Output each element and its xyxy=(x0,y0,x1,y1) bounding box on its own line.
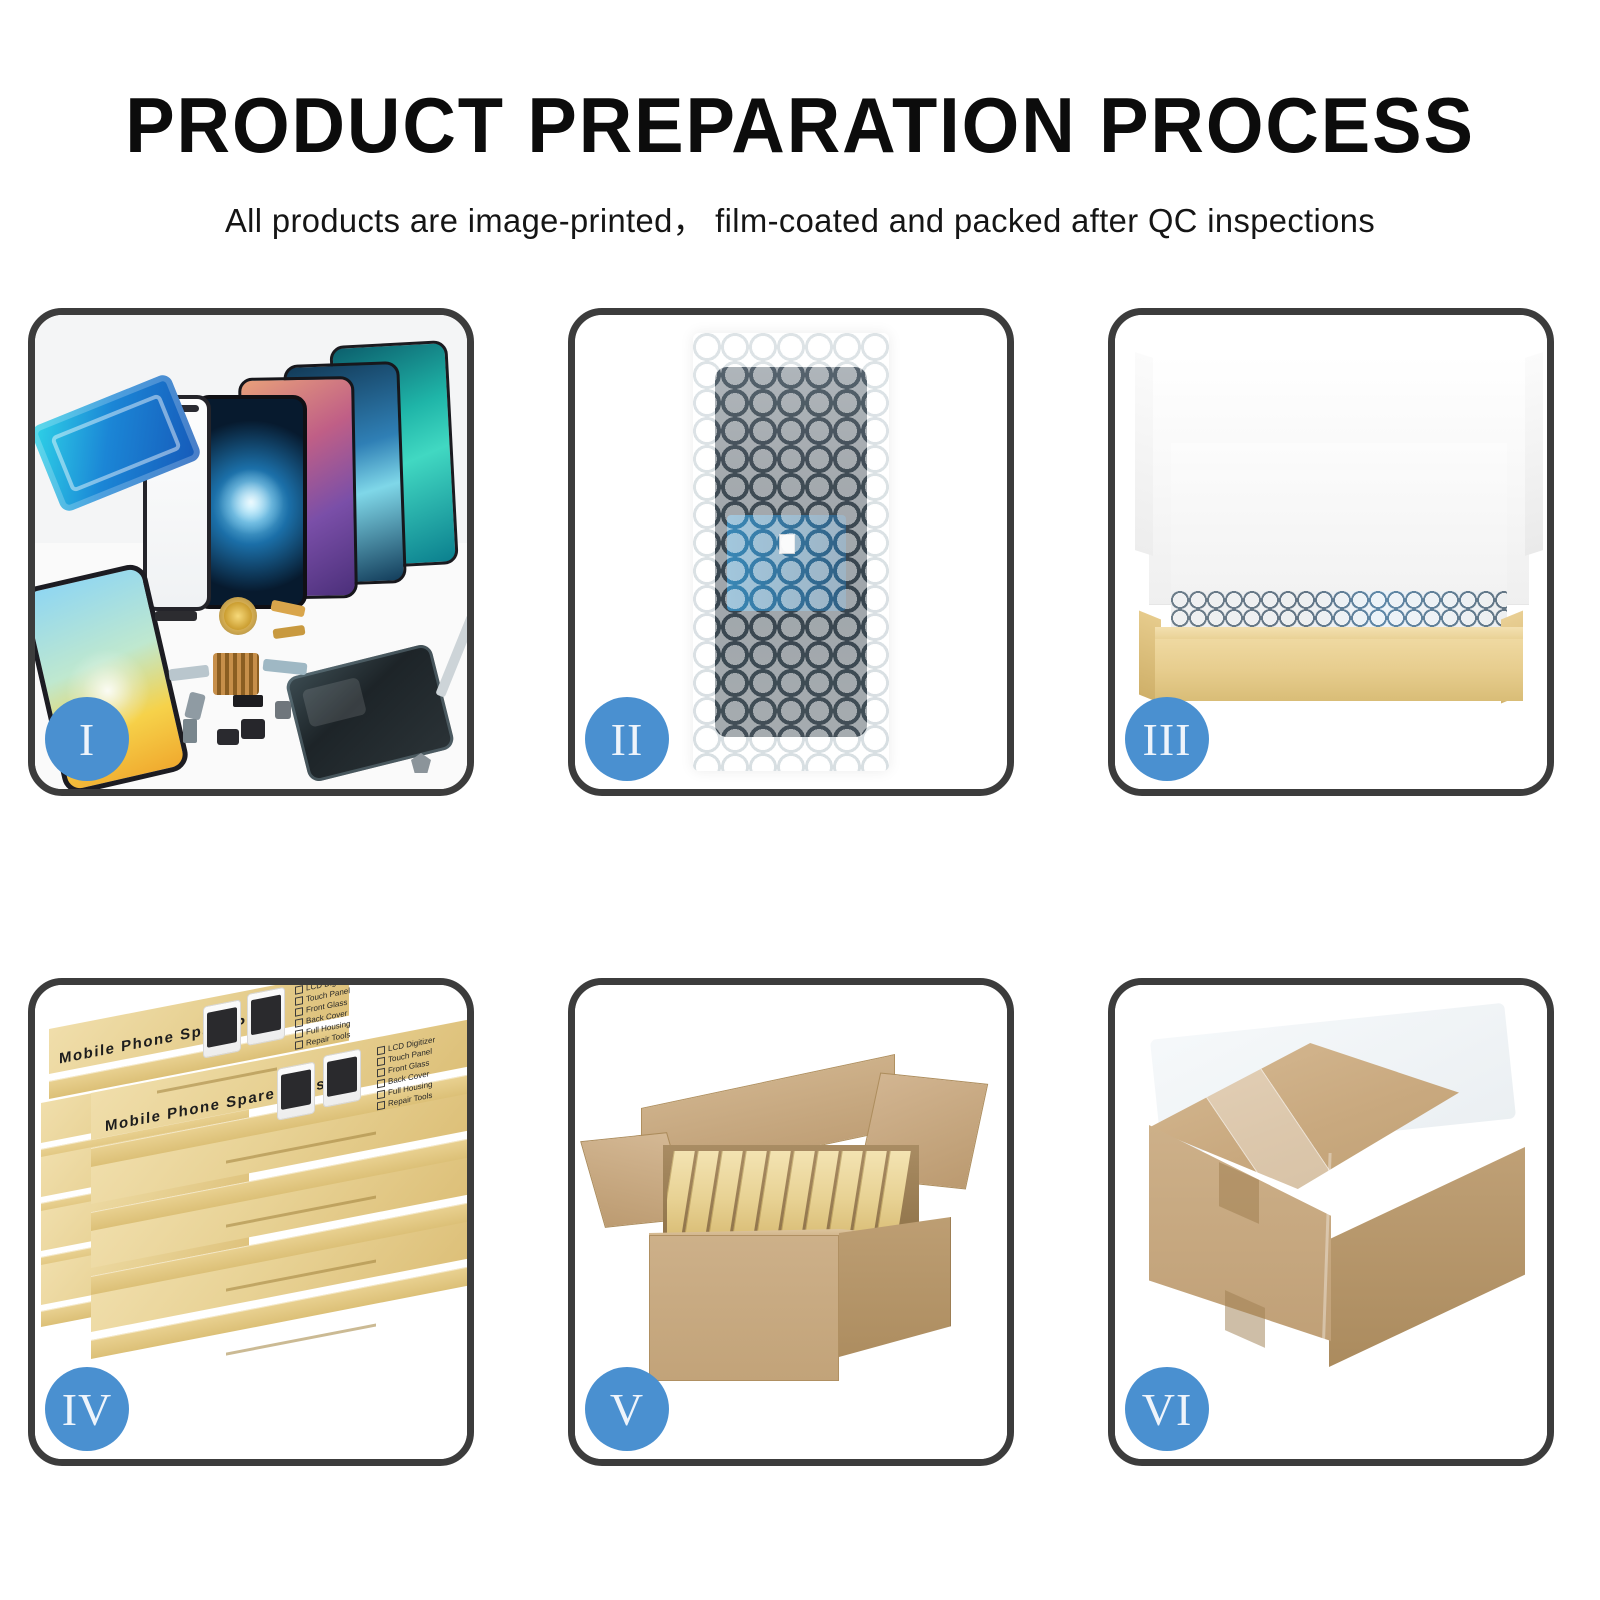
retail-box xyxy=(91,1221,467,1295)
step-badge-5: V xyxy=(585,1367,669,1451)
infographic-page: PRODUCT PREPARATION PROCESS All products… xyxy=(0,0,1600,1600)
phone-cracked-screen-icon xyxy=(195,395,307,609)
step-badge-1: I xyxy=(45,697,129,781)
process-steps-grid: I II xyxy=(0,0,1600,1600)
component-icon xyxy=(217,729,239,745)
component-icon xyxy=(183,719,197,743)
wireless-coil-icon xyxy=(219,597,257,635)
bubble-wrapped-screen-illustration xyxy=(693,333,889,771)
retail-box-checklist: LCD Digitizer Touch Panel Front Glass Ba… xyxy=(295,985,353,1051)
speaker-bar-icon xyxy=(155,611,197,621)
step-panel-4: Mobile Phone Spare Parts LCD Digitizer T… xyxy=(28,978,474,1466)
camera-module-icon xyxy=(241,719,265,739)
box-interior-icon xyxy=(1171,443,1507,595)
step-panel-6: VI xyxy=(1108,978,1554,1466)
carton-front-face-icon xyxy=(649,1235,839,1381)
bubble-wrap-texture xyxy=(693,333,889,771)
chip-icon xyxy=(213,653,259,695)
component-icon xyxy=(275,701,291,719)
packed-gold-boxes-icon xyxy=(667,1151,915,1237)
carton-side-face-icon xyxy=(1329,1147,1525,1367)
carton-side-face-icon xyxy=(839,1217,951,1357)
step-badge-3: III xyxy=(1125,697,1209,781)
step-badge-6: VI xyxy=(1125,1367,1209,1451)
retail-box xyxy=(91,1285,467,1359)
step-panel-3: III xyxy=(1108,308,1554,796)
box-front-wall-icon xyxy=(1155,639,1523,701)
step-panel-2: II xyxy=(568,308,1014,796)
product-thumbnail-icon xyxy=(247,987,285,1046)
step-badge-2: II xyxy=(585,697,669,781)
retail-box xyxy=(91,1157,467,1231)
step-panel-5: V xyxy=(568,978,1014,1466)
step-badge-4: IV xyxy=(45,1367,129,1451)
product-thumbnail-icon xyxy=(203,999,241,1058)
retail-box-checklist: LCD Digitizer Touch Panel Front Glass Ba… xyxy=(377,1034,435,1111)
component-icon xyxy=(233,695,263,707)
step-panel-1: I xyxy=(28,308,474,796)
